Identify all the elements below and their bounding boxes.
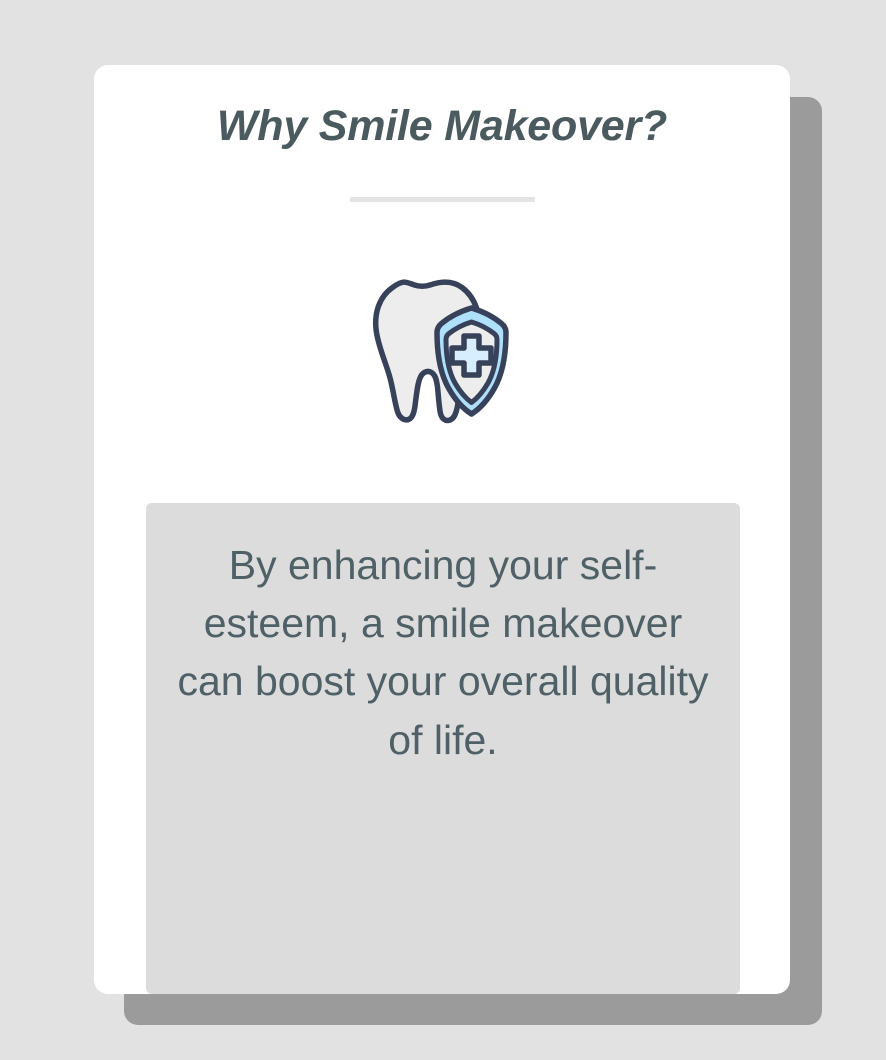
title-divider [350, 197, 535, 202]
tooth-shield-cross-icon [365, 274, 530, 429]
info-card: Why Smile Makeover? By enhancing your se… [94, 65, 790, 994]
body-text-panel: By enhancing your self-esteem, a smile m… [146, 503, 740, 994]
body-text: By enhancing your self-esteem, a smile m… [176, 536, 710, 769]
page-title: Why Smile Makeover? [94, 103, 790, 150]
slide-stage: Why Smile Makeover? By enhancing your se… [0, 0, 886, 1060]
